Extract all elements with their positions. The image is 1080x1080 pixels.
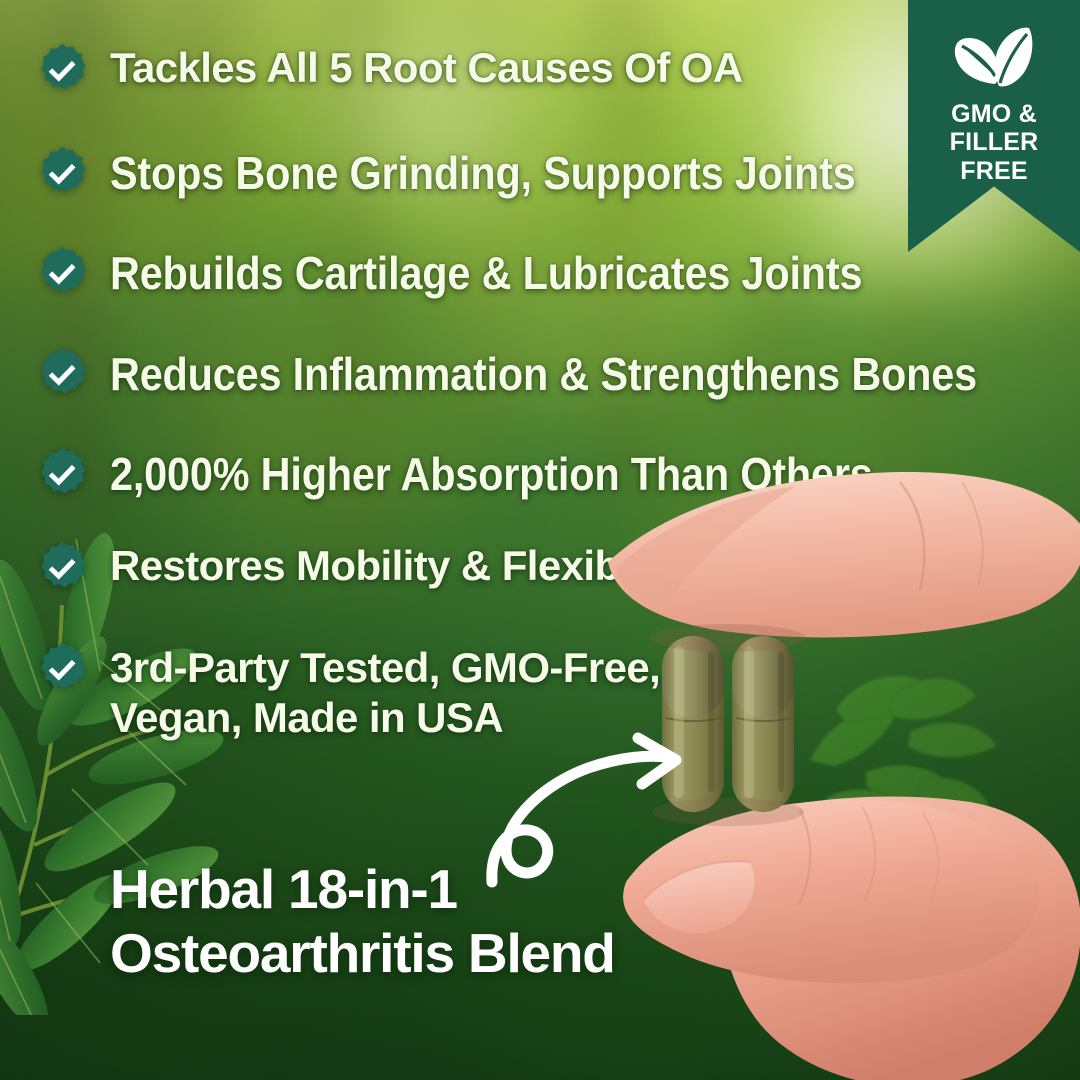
check-icon <box>36 145 88 197</box>
list-item: Rebuilds Cartilage & Lubricates Joints <box>36 245 946 300</box>
ribbon-text-block: GMO & FILLER FREE <box>950 100 1039 185</box>
check-icon <box>36 641 88 693</box>
list-item: Reduces Inflammation & Strengthens Bones <box>36 346 1073 401</box>
list-item-label: Rebuilds Cartilage & Lubricates Joints <box>110 246 862 300</box>
list-item-label: Tackles All 5 Root Causes Of OA <box>110 44 743 92</box>
check-icon <box>36 245 88 297</box>
list-item-label: Reduces Inflammation & Strengthens Bones <box>110 347 977 401</box>
check-icon <box>36 346 88 398</box>
list-item: Stops Bone Grinding, Supports Joints <box>36 145 938 200</box>
ribbon-line-2: FILLER <box>950 128 1039 156</box>
capsule <box>732 636 794 812</box>
ribbon-line-1: GMO & <box>950 100 1039 128</box>
page-title: Herbal 18-in-1 Osteoarthritis Blend <box>110 858 730 986</box>
product-marketing-image: Tackles All 5 Root Causes Of OA Stops Bo… <box>0 0 1080 1080</box>
ribbon-line-3: FREE <box>950 157 1039 185</box>
check-icon <box>36 42 88 94</box>
list-item-label: Stops Bone Grinding, Supports Joints <box>110 146 856 200</box>
list-item: Restores Mobility & Flexibility <box>36 540 689 592</box>
check-icon <box>36 446 88 498</box>
list-item: Tackles All 5 Root Causes Of OA <box>36 42 743 94</box>
check-icon <box>36 540 88 592</box>
two-leaves-icon <box>951 26 1037 88</box>
